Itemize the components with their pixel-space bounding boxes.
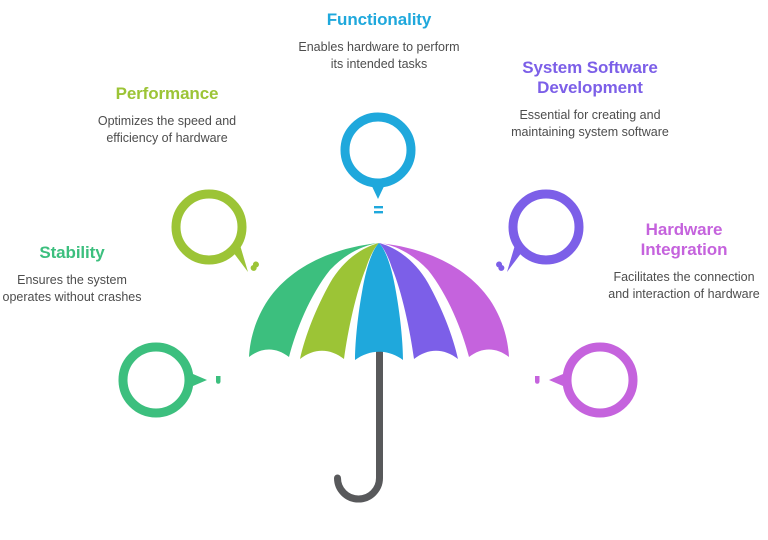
node-performance: Performance Optimizes the speed and effi… — [84, 84, 250, 146]
marker-hardware-integration[interactable] — [535, 347, 633, 413]
node-system-software-development: System Software Development Essential fo… — [502, 58, 678, 140]
marker-system-software-development[interactable] — [496, 194, 579, 272]
umbrella-graphic — [249, 243, 509, 499]
node-title-stability: Stability — [0, 243, 146, 263]
marker-functionality[interactable] — [345, 117, 411, 213]
marker-performance[interactable] — [176, 194, 259, 272]
node-description-hardware-integration: Facilitates the connection and interacti… — [604, 269, 764, 302]
node-title-performance: Performance — [84, 84, 250, 104]
node-title-system-software-development: System Software Development — [502, 58, 678, 98]
umbrella-handle — [338, 352, 380, 499]
umbrella-panel-3 — [355, 243, 403, 360]
infographic-canvas: Functionality Enables hardware to perfor… — [0, 0, 768, 540]
umbrella-panel-2 — [300, 243, 379, 359]
node-description-performance: Optimizes the speed and efficiency of ha… — [84, 113, 250, 146]
marker-stability[interactable] — [123, 347, 221, 413]
node-description-stability: Ensures the system operates without cras… — [0, 272, 146, 305]
node-functionality: Functionality Enables hardware to perfor… — [296, 10, 462, 72]
node-description-system-software-development: Essential for creating and maintaining s… — [502, 107, 678, 140]
umbrella-panel-1 — [249, 243, 379, 357]
node-description-functionality: Enables hardware to perform its intended… — [296, 39, 462, 72]
node-hardware-integration: Hardware Integration Facilitates the con… — [604, 220, 764, 302]
node-stability: Stability Ensures the system operates wi… — [0, 243, 146, 305]
node-title-functionality: Functionality — [296, 10, 462, 30]
node-title-hardware-integration: Hardware Integration — [604, 220, 764, 260]
umbrella-panel-4 — [379, 243, 458, 359]
umbrella-panel-5 — [379, 243, 509, 357]
